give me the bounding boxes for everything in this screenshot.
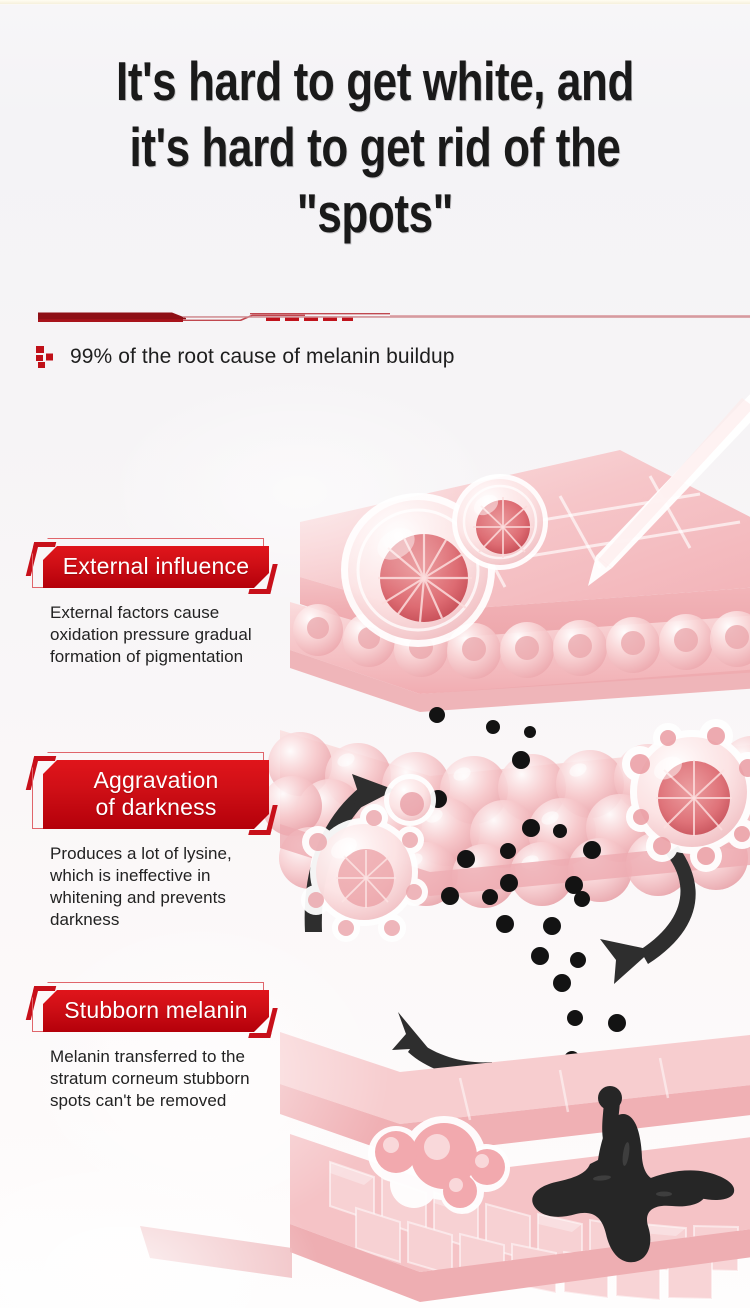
- badge-label-stubborn-melanin: Stubborn melanin: [53, 997, 259, 1024]
- description-stubborn-melanin: Melanin transferred to the stratum corne…: [50, 1046, 300, 1112]
- badge-label-external-influence: External influence: [53, 553, 259, 580]
- title-line-1: It's hard to get white, and: [75, 48, 675, 114]
- info-block-stubborn-melanin: Stubborn melanin Melanin transferred to …: [32, 990, 300, 1112]
- badge-external-influence[interactable]: External influence: [32, 546, 270, 588]
- subtitle-row: 99% of the root cause of melanin buildup: [36, 345, 455, 369]
- badge-fill: Aggravation of darkness: [43, 760, 269, 829]
- description-external-influence: External factors cause oxidation pressur…: [50, 602, 300, 668]
- badge-stubborn-melanin[interactable]: Stubborn melanin: [32, 990, 270, 1032]
- badge-fill: Stubborn melanin: [43, 990, 269, 1032]
- tech-divider: [0, 300, 750, 330]
- title-line-3: "spots": [75, 180, 675, 246]
- tech-divider-icon: [0, 300, 750, 330]
- badge-aggravation-of-darkness[interactable]: Aggravation of darkness: [32, 760, 270, 829]
- top-accent-band: [0, 0, 750, 4]
- info-block-external-influence: External influence External factors caus…: [32, 546, 300, 668]
- infographic-page: It's hard to get white, and it's hard to…: [0, 0, 750, 1308]
- red-blocks-bullet-icon: [36, 345, 56, 369]
- description-aggravation-of-darkness: Produces a lot of lysine, which is ineff…: [50, 843, 300, 931]
- badge-label-aggravation-of-darkness: Aggravation of darkness: [53, 767, 259, 821]
- badge-fill: External influence: [43, 546, 269, 588]
- title-line-2: it's hard to get rid of the: [75, 114, 675, 180]
- subtitle-text: 99% of the root cause of melanin buildup: [70, 345, 455, 369]
- page-title: It's hard to get white, and it's hard to…: [0, 48, 750, 246]
- info-block-aggravation-of-darkness: Aggravation of darkness Produces a lot o…: [32, 760, 300, 931]
